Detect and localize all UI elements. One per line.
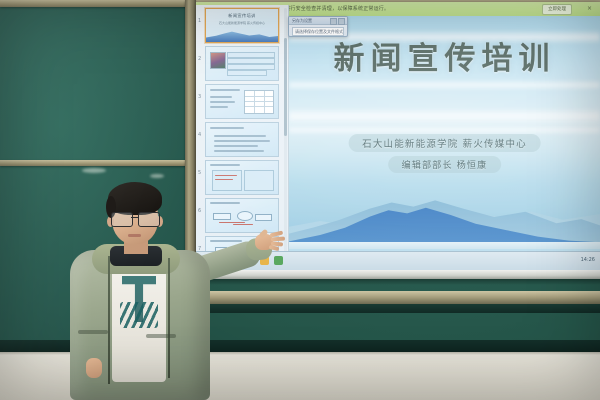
thumbnail-line [214, 140, 270, 142]
current-slide[interactable]: 新闻宣传培训 石大山能新能源学院 薪火传媒中心 编辑部部长 杨恒康 [289, 16, 600, 249]
mouth [128, 234, 141, 237]
dialog-input[interactable]: 请选择保存位置及文件格式 [292, 27, 344, 36]
slide-thumbnail-2[interactable] [205, 46, 279, 81]
minimize-icon[interactable] [330, 18, 337, 25]
list-item[interactable]: 1 新闻宣传培训 石大山能新能源学院 薪火传媒中心 [196, 5, 288, 43]
board-rail-mid [0, 160, 196, 166]
close-icon[interactable]: × [585, 4, 594, 13]
slide-organization: 石大山能新能源学院 薪火传媒中心 [348, 134, 541, 152]
jacket-zipper-right [168, 258, 170, 378]
hoodie-graphic-detail [120, 302, 158, 328]
dialog-title: 另存为设置 [292, 18, 312, 24]
thumbnail-textbar [227, 70, 267, 76]
floating-dialog[interactable]: 另存为设置 请选择保存位置及文件格式 [288, 16, 348, 37]
jacket-pocket [146, 334, 176, 338]
slide-number: 2 [198, 56, 201, 62]
slide-number: 5 [198, 170, 201, 176]
scrollbar-thumb[interactable] [284, 38, 287, 136]
dialog-window-buttons[interactable] [330, 18, 345, 25]
slide-number: 3 [198, 94, 201, 100]
jacket-pocket [78, 330, 108, 334]
sidebar-scrollbar[interactable] [284, 8, 287, 262]
notification-action-button[interactable]: 立即处理 [542, 4, 572, 15]
thumbnail-table [244, 90, 274, 114]
chalk-smudge [82, 168, 106, 173]
slide-thumbnail-3[interactable] [205, 84, 279, 119]
left-hand [86, 358, 102, 378]
classroom-presentation-scene: 检测到您的系统存在风险，建议立即进行安全检查并清理，以保障系统正常运行。 立即处… [0, 0, 600, 400]
list-item[interactable]: 3 [196, 81, 288, 119]
slide-presenter: 编辑部部长 杨恒康 [388, 156, 502, 173]
list-item[interactable]: 2 [196, 43, 288, 81]
thumbnail-highlight [215, 175, 237, 176]
close-icon[interactable] [338, 18, 345, 25]
slide-thumbnail-1[interactable]: 新闻宣传培训 石大山能新能源学院 薪火传媒中心 [205, 8, 279, 43]
hair [108, 182, 162, 215]
thumbnail-line [210, 127, 244, 129]
thumbnail-photo [210, 52, 226, 69]
slide-number: 4 [198, 132, 201, 138]
slide-footer-band [289, 242, 600, 249]
thumbnail-line [210, 89, 240, 91]
thumbnail-title: 新闻宣传培训 [228, 13, 256, 19]
glasses-icon [110, 212, 160, 225]
list-item[interactable]: 4 [196, 119, 288, 157]
slide-thumbnail-4[interactable] [205, 122, 279, 157]
thumbnail-line [210, 101, 235, 103]
pointing-hand [255, 230, 281, 252]
thumbnail-subtitle: 石大山能新能源学院 薪火传媒中心 [219, 21, 265, 25]
slide-title: 新闻宣传培训 [289, 42, 600, 76]
slide-number: 1 [198, 18, 201, 24]
thumbnail-line [214, 145, 258, 147]
thumbnail-line [214, 150, 264, 152]
dialog-titlebar[interactable]: 另存为设置 [289, 17, 347, 25]
thumbnail-mountain-graphic [206, 30, 278, 42]
taskbar-clock[interactable]: 14:26 [581, 257, 595, 263]
dialog-body-text: 请选择保存位置及文件格式 [295, 28, 343, 35]
thumbnail-line [210, 164, 240, 166]
jacket-zipper-left [108, 256, 110, 384]
presenter-person [50, 178, 280, 400]
thumbnail-line [210, 96, 232, 98]
thumbnail-line [214, 135, 266, 137]
thumbnail-line [210, 106, 228, 108]
